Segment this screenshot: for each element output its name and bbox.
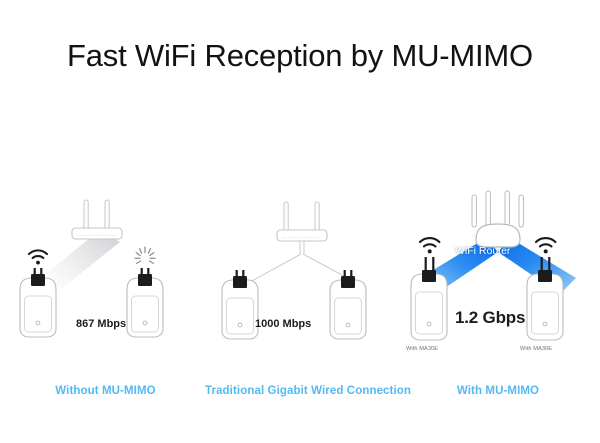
wifi-router-grey bbox=[72, 200, 122, 239]
powerline-adapter-right bbox=[527, 270, 563, 340]
wifi-signal-icon-left bbox=[420, 238, 439, 253]
speed-label-traditional-gigabit-wired: 1000 Mbps bbox=[255, 318, 311, 330]
powerline-adapter-right bbox=[127, 274, 163, 337]
panel-traditional-gigabit-wired: 1000 Mbps Traditional Gigabit Wired Conn… bbox=[205, 190, 400, 405]
page-title: Fast WiFi Reception by MU-MIMO bbox=[0, 38, 600, 74]
wifi-signal-icon bbox=[29, 250, 47, 264]
powerline-adapter-left bbox=[20, 274, 56, 337]
wifi-router-white bbox=[472, 191, 523, 247]
powerline-adapter-right bbox=[330, 276, 366, 339]
speed-label-with-mu-mimo: 1.2 Gbps bbox=[455, 308, 525, 328]
caption-without-mu-mimo: Without MU-MIMO bbox=[8, 385, 203, 397]
device-sublabel-right: With MA30E bbox=[520, 346, 552, 352]
panel-without-mu-mimo: 867 Mbps Without MU-MIMO bbox=[8, 190, 203, 405]
caption-traditional-gigabit-wired: Traditional Gigabit Wired Connection bbox=[205, 385, 400, 397]
scene-traditional-gigabit-wired: 1000 Mbps bbox=[205, 190, 400, 370]
wired-connection-lines bbox=[250, 238, 355, 282]
speed-label-without-mu-mimo: 867 Mbps bbox=[76, 318, 126, 330]
powerline-adapter-left bbox=[222, 276, 258, 339]
device-sublabel-left: With MA30E bbox=[406, 346, 438, 352]
caption-with-mu-mimo: With MU-MIMO bbox=[398, 385, 598, 397]
scene-without-mu-mimo: 867 Mbps bbox=[8, 190, 203, 370]
infographic-canvas: Fast WiFi Reception by MU-MIMO bbox=[0, 0, 600, 443]
no-signal-burst-icon bbox=[135, 247, 155, 263]
panel-with-mu-mimo: WiFi Router 1.2 Gbps With MA30E With MA3… bbox=[398, 190, 598, 405]
powerline-adapter-left bbox=[411, 270, 447, 340]
scene-with-mu-mimo: WiFi Router 1.2 Gbps With MA30E With MA3… bbox=[398, 190, 598, 370]
wifi-router-label: WiFi Router bbox=[455, 245, 510, 257]
wifi-router-grey bbox=[277, 202, 327, 241]
wifi-signal-icon-right bbox=[536, 238, 555, 253]
